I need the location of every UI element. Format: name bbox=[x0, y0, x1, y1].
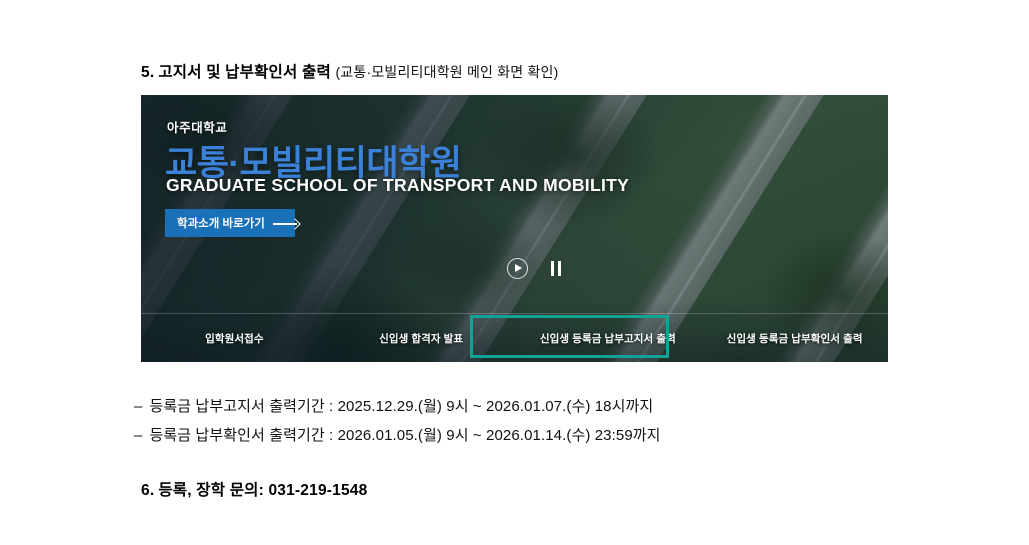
nav-item-tuition-bill-print[interactable]: 신입생 등록금 납부고지서 출력 bbox=[515, 314, 702, 362]
slider-media-controls bbox=[507, 258, 562, 279]
period-notice-list: –등록금 납부고지서 출력기간 : 2025.12.29.(월) 9시 ~ 20… bbox=[134, 392, 894, 450]
section-5-number: 5. bbox=[141, 64, 154, 81]
nav-item-admission-results[interactable]: 신입생 합격자 발표 bbox=[328, 314, 515, 362]
arrow-right-icon bbox=[273, 218, 299, 228]
banner-subtitle: GRADUATE SCHOOL OF TRANSPORT AND MOBILIT… bbox=[166, 175, 629, 196]
section-5-note: (교통·모빌리티대학원 메인 화면 확인) bbox=[335, 64, 558, 80]
pause-icon[interactable] bbox=[550, 261, 562, 276]
play-icon[interactable] bbox=[507, 258, 528, 279]
nav-item-payment-receipt-print[interactable]: 신입생 등록금 납부확인서 출력 bbox=[701, 314, 888, 362]
banner-quicklink-nav: 입학원서접수 신입생 합격자 발표 신입생 등록금 납부고지서 출력 신입생 등… bbox=[141, 314, 888, 362]
list-item: –등록금 납부확인서 출력기간 : 2026.01.05.(월) 9시 ~ 20… bbox=[134, 421, 894, 450]
section-6-heading: 6.등록, 장학 문의: 031-219-1548 bbox=[141, 478, 367, 500]
section-5-title: 고지서 및 납부확인서 출력 bbox=[158, 64, 331, 81]
payment-receipt-period-text: 등록금 납부확인서 출력기간 : 2026.01.05.(월) 9시 ~ 202… bbox=[149, 427, 660, 444]
section-6-contact-text: 등록, 장학 문의: 031-219-1548 bbox=[158, 482, 367, 499]
banner-eyebrow: 아주대학교 bbox=[167, 117, 228, 136]
bullet-dash: – bbox=[134, 398, 142, 415]
tuition-bill-period-text: 등록금 납부고지서 출력기간 : 2025.12.29.(월) 9시 ~ 202… bbox=[149, 398, 653, 415]
department-intro-button[interactable]: 학과소개 바로가기 bbox=[165, 209, 295, 237]
department-intro-label: 학과소개 바로가기 bbox=[177, 215, 265, 231]
section-6-number: 6. bbox=[141, 482, 154, 499]
graduate-school-banner: 아주대학교 교통·모빌리티대학원 GRADUATE SCHOOL OF TRAN… bbox=[141, 95, 888, 362]
list-item: –등록금 납부고지서 출력기간 : 2025.12.29.(월) 9시 ~ 20… bbox=[134, 392, 894, 421]
nav-item-admission-application[interactable]: 입학원서접수 bbox=[141, 314, 328, 362]
bullet-dash: – bbox=[134, 427, 142, 444]
section-5-heading: 5.고지서 및 납부확인서 출력 (교통·모빌리티대학원 메인 화면 확인) bbox=[141, 60, 559, 82]
